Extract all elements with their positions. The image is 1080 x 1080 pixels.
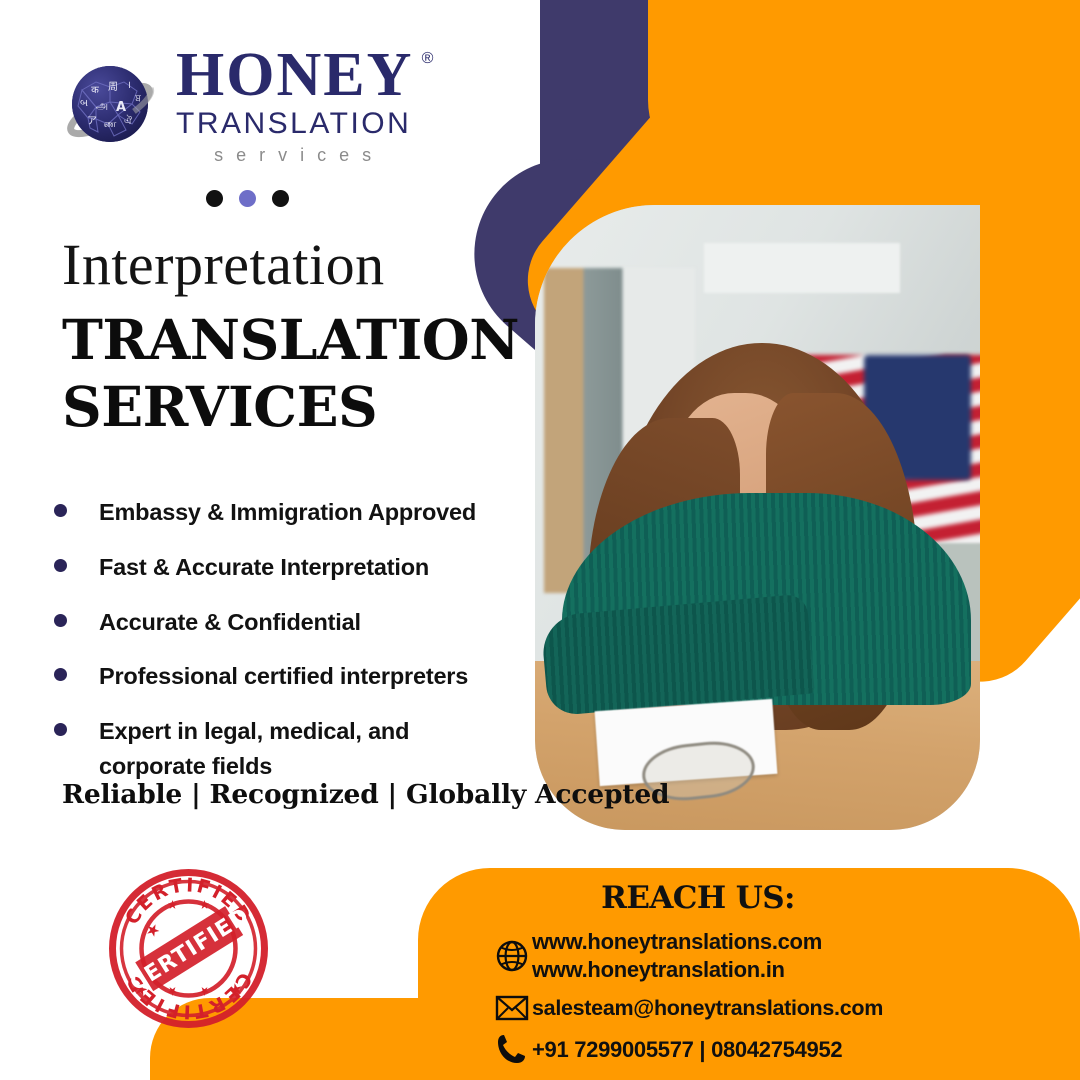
contact-row-phone[interactable]: +91 7299005577 | 08042754952 xyxy=(492,1033,1072,1065)
headline-line-2: SERVICES xyxy=(62,373,519,440)
logo-secondary-text: TRANSLATION xyxy=(176,107,413,142)
interpreter-photo xyxy=(535,205,980,830)
bullet-dot-icon xyxy=(54,504,67,517)
svg-text:A: A xyxy=(116,100,126,115)
svg-text:क: क xyxy=(91,85,99,96)
dot-2 xyxy=(239,190,256,207)
headline-script: Interpretation xyxy=(62,236,385,294)
phone-icon xyxy=(492,1033,532,1065)
contact-row-website[interactable]: www.honeytranslations.com www.honeytrans… xyxy=(492,928,1072,983)
contact-phone-text[interactable]: +91 7299005577 | 08042754952 xyxy=(532,1036,842,1064)
svg-text:周: 周 xyxy=(108,81,118,93)
headline-bold: TRANSLATION SERVICES xyxy=(62,306,519,440)
svg-text:।: । xyxy=(127,80,131,91)
contact-title: REACH US: xyxy=(418,880,978,916)
svg-text:அ: அ xyxy=(96,99,108,112)
website-line-1[interactable]: www.honeytranslations.com xyxy=(532,928,822,956)
svg-text:ண: ண xyxy=(104,119,117,130)
svg-text:ঐ: ঐ xyxy=(124,115,132,127)
registered-trademark-icon: ® xyxy=(422,50,434,68)
contact-email-text[interactable]: salesteam@honeytranslations.com xyxy=(532,995,883,1022)
decorative-dots xyxy=(206,190,289,207)
list-item: Professional certified interpreters xyxy=(54,659,524,694)
logo-tertiary-text: s e r v i c e s xyxy=(176,145,413,166)
envelope-icon xyxy=(492,994,532,1022)
bullet-dot-icon xyxy=(54,559,67,572)
bullet-dot-icon xyxy=(54,723,67,736)
contact-website-lines: www.honeytranslations.com www.honeytrans… xyxy=(532,928,822,983)
feature-text: Professional certified interpreters xyxy=(99,659,468,694)
poster-canvas: क 周 । બ அ A ਬ ア ண ঐ HONEY ® TRANSLATION xyxy=(0,0,1080,1080)
list-item: Accurate & Confidential xyxy=(54,605,524,640)
bullet-dot-icon xyxy=(54,668,67,681)
logo-primary-text: HONEY xyxy=(176,46,413,105)
globe-languages-icon: क 周 । બ அ A ਬ ア ண ঐ xyxy=(58,54,162,158)
feature-text: Embassy & Immigration Approved xyxy=(99,495,476,530)
tagline: Reliable | Recognized | Globally Accepte… xyxy=(62,779,669,810)
contact-details: www.honeytranslations.com www.honeytrans… xyxy=(492,928,1072,1076)
brand-logo[interactable]: क 周 । બ அ A ਬ ア ண ঐ HONEY ® TRANSLATION xyxy=(58,46,413,166)
globe-icon xyxy=(492,939,532,973)
contact-row-email[interactable]: salesteam@honeytranslations.com xyxy=(492,994,1072,1022)
list-item: Fast & Accurate Interpretation xyxy=(54,550,524,585)
list-item: Embassy & Immigration Approved xyxy=(54,495,524,530)
list-item: Expert in legal, medical, and corporate … xyxy=(54,714,524,784)
dot-3 xyxy=(272,190,289,207)
headline-line-1: TRANSLATION xyxy=(62,306,519,373)
svg-text:ア: ア xyxy=(87,116,97,127)
certified-stamp-badge: CERTIFIED CERTIFIED CERTIFIED xyxy=(106,866,271,1031)
feature-text: Expert in legal, medical, and corporate … xyxy=(99,714,449,784)
feature-text: Fast & Accurate Interpretation xyxy=(99,550,429,585)
feature-text: Accurate & Confidential xyxy=(99,605,361,640)
svg-text:બ: બ xyxy=(80,98,88,109)
dot-1 xyxy=(206,190,223,207)
website-line-2[interactable]: www.honeytranslation.in xyxy=(532,956,822,984)
bullet-dot-icon xyxy=(54,614,67,627)
feature-list: Embassy & Immigration Approved Fast & Ac… xyxy=(54,495,524,804)
